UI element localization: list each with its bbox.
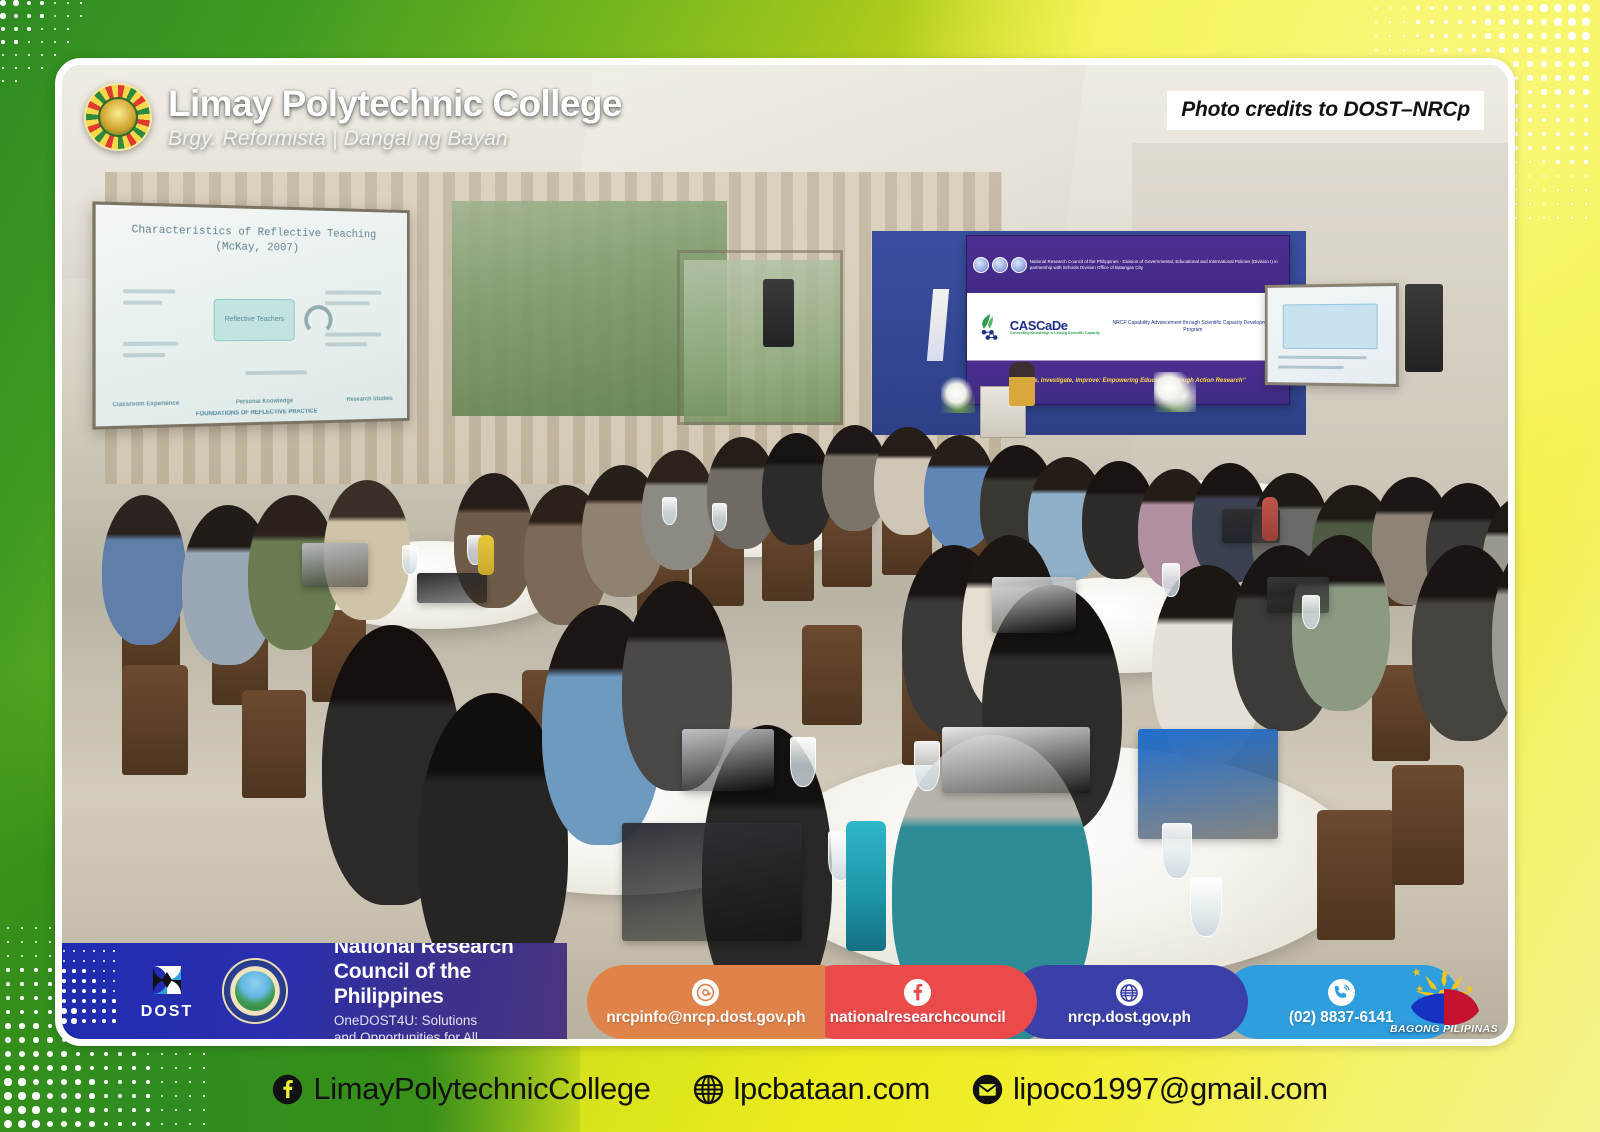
bagong-pilipinas-logo: BAGONG PILIPINAS [1388,963,1500,1035]
tarpaulin-middle: CASCaDe Connecting Knowledge & Linking S… [967,293,1289,360]
slide-center-node: Reflective Teachers [214,299,295,342]
strip-contact-label: lpcbataan.com [734,1071,930,1107]
strip-contact-label: lipoco1997@gmail.com [1013,1071,1328,1107]
water-glass [1162,823,1192,879]
slide-title-main: Characteristics of Reflective Teaching [132,224,377,241]
slide-text-line [1278,366,1344,370]
slide-text-line [325,301,370,305]
slide-text-line [123,300,163,304]
laptop [942,727,1090,793]
cascade-leaf-molecule-icon [975,312,1005,342]
slide-text-line [123,353,166,358]
globe-icon [1116,979,1143,1006]
school-tagline: Brgy. Reformista | Dangal ng Bayan [168,128,622,149]
poster-canvas: Characteristics of Reflective Teaching (… [0,0,1600,1132]
slide-citation: (McKay, 2007) [116,238,390,258]
nrcp-tagline: OneDOST4U: Solutions and Opportunities f… [334,1013,567,1039]
cascade-wordmark-subtext: Connecting Knowledge & Linking Scientifi… [1010,332,1100,336]
facebook-icon [904,979,931,1006]
laptop [1138,729,1278,839]
school-identity: Limay Polytechnic College Brgy. Reformis… [168,83,622,149]
agency-seal-icon [1011,257,1027,273]
laptop [682,729,774,791]
photo-credit-badge: Photo credits to DOST–NRCp [1167,91,1484,130]
cascade-wordmark: CASCaDe Connecting Knowledge & Linking S… [1010,319,1100,336]
nrcp-tagline-line1: OneDOST4U: Solutions [334,1013,567,1030]
water-glass [1302,595,1320,629]
water-glass [914,741,940,791]
school-contact-strip: LimayPolytechnicCollege lpcbataan.com [0,1046,1600,1132]
strip-contact-website[interactable]: lpcbataan.com [693,1071,930,1107]
laptop [992,577,1076,633]
slide-arc-icon [304,305,332,335]
nrcp-contact-area: nrcpinfo@nrcp.dost.gov.ph nationalresear… [567,943,1508,1039]
chair [1317,810,1395,940]
seated-participant [102,495,186,645]
strip-contact-label: LimayPolytechnicCollege [313,1071,650,1107]
facebook-icon [272,1074,303,1105]
flower-arrangement [941,377,975,413]
chair [802,625,862,725]
contact-pill-label: nrcp.dost.gov.ph [1068,1009,1191,1027]
nrcp-name-line1: National Research [334,943,567,960]
contact-pill-label: (02) 8837-6141 [1289,1009,1394,1027]
dost-petal-logo-icon: DOST [124,955,210,1027]
pa-speaker [1405,284,1443,372]
nrcp-tagline-line2: and Opportunities for All [334,1030,567,1039]
water-glass [712,503,727,531]
slide-content-block [1283,304,1378,349]
chair [242,690,306,798]
nrcp-branding-block: DOST National Research Council of the Ph… [62,943,567,1039]
nrcp-name: National Research Council of the Philipp… [334,943,567,1009]
contact-pill-facebook[interactable]: nationalresearchcouncil [799,965,1037,1039]
water-glass [790,737,816,787]
nrcp-name-block: National Research Council of the Philipp… [334,943,567,1039]
slide-footer-item: Research Studies [347,396,393,403]
contact-pill-email[interactable]: nrcpinfo@nrcp.dost.gov.ph [587,965,825,1039]
presenter-person [1009,362,1035,406]
slide-text-line [1278,356,1367,360]
card-header: Limay Polytechnic College Brgy. Reformis… [62,65,1508,161]
slide-footer-caption: FOUNDATIONS OF REFLECTIVE PRACTICE [96,406,408,420]
chair [122,665,188,775]
slide-text-line [123,342,179,347]
flower-arrangement [1154,372,1196,412]
cascade-program-name: NRCP Capability Advancement through Scie… [1105,320,1281,333]
page-title: Limay Polytechnic College [168,85,622,122]
water-glass [1162,563,1180,597]
tarpaulin-header-text: National Research Council of the Philipp… [1030,259,1283,270]
email-envelope-icon [972,1074,1003,1105]
photo-card: Characteristics of Reflective Teaching (… [55,58,1515,1046]
chair [1392,765,1464,885]
lpc-seal-icon [84,83,152,151]
drink-bottle [478,535,494,575]
email-at-icon [692,979,719,1006]
contact-pill-label: nrcpinfo@nrcp.dost.gov.ph [606,1009,805,1027]
dost-petals-mark [134,955,200,1005]
nrcp-name-line2: Council of the Philippines [334,960,567,1010]
water-glass [402,545,418,575]
globe-icon [693,1074,724,1105]
event-photograph: Characteristics of Reflective Teaching (… [62,65,1508,1039]
seated-participant [642,450,716,570]
agency-seal-icon [992,257,1008,273]
water-glass [662,497,677,525]
slide-text-line [325,291,381,295]
bagong-pilipinas-sunburst-icon [1405,963,1483,1025]
halftone-dots-nrcp [64,951,130,1037]
drink-bottle [846,821,886,951]
laptop [622,823,802,941]
slide-text-line [325,332,381,336]
slide-text-line [325,343,367,347]
nrcp-footer-bar: DOST National Research Council of the Ph… [62,943,1508,1039]
glass-door-frame [677,250,843,425]
agency-seal-icon [973,257,989,273]
contact-pill-website[interactable]: nrcp.dost.gov.ph [1011,965,1249,1039]
laptop [302,543,368,587]
slide-footer-item: Personal Knowledge [236,399,293,406]
laptop [417,573,487,603]
nrcp-seal-icon [222,958,288,1024]
slide-title: Characteristics of Reflective Teaching (… [116,223,390,258]
slide-footer-item: Classroom Experience [113,401,180,409]
drink-bottle [1262,497,1278,541]
projector-screen-left: Characteristics of Reflective Teaching (… [93,202,411,430]
tarpaulin-header: National Research Council of the Philipp… [967,236,1289,293]
contact-pill-group: nrcpinfo@nrcp.dost.gov.ph nationalresear… [587,965,1460,1039]
phone-icon [1328,979,1355,1006]
strip-contact-email[interactable]: lipoco1997@gmail.com [972,1071,1328,1107]
water-glass [1190,877,1222,937]
projector-screen-right [1265,283,1399,387]
strip-contact-facebook[interactable]: LimayPolytechnicCollege [272,1071,650,1107]
pa-speaker [763,279,793,347]
contact-pill-label: nationalresearchcouncil [830,1009,1006,1027]
slide-text-line [245,371,307,376]
dost-wordmark: DOST [124,1003,210,1021]
slide-text-line [123,289,176,293]
nrcp-seal-ring [224,960,286,1022]
